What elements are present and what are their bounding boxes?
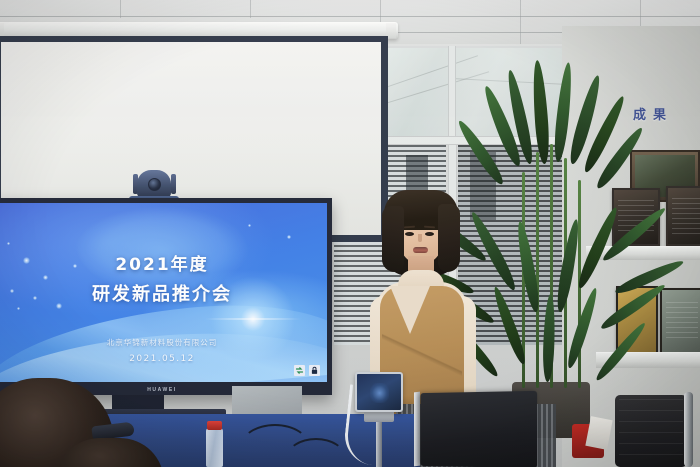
award-plaque: [666, 186, 700, 246]
slide-status-icons: [294, 365, 320, 376]
office-chair[interactable]: [615, 395, 687, 467]
slide-title: 2021年度: [0, 250, 327, 275]
window-mullion: [448, 46, 456, 142]
water-bottle[interactable]: [206, 428, 223, 467]
camera-lens-icon: [148, 178, 161, 191]
laptop-edge: [414, 392, 420, 467]
certificate-gray: [660, 288, 700, 356]
presenter-hair-right: [438, 204, 460, 272]
slide-flare-ray: [205, 318, 301, 320]
tv-brand-label: HUAWEI: [147, 387, 177, 393]
slide-date: 2021.05.12: [0, 354, 327, 364]
presenter-eye-right: [425, 232, 434, 236]
network-icon: [294, 365, 305, 376]
camera-arm-right: [171, 174, 176, 194]
potted-plant: [468, 52, 636, 432]
slide-particle: [248, 224, 251, 227]
phone-screen: [357, 374, 401, 410]
presenter-eye-left: [405, 232, 414, 236]
presenter-mouth: [413, 247, 428, 253]
wall-sign-text: 成果: [633, 104, 673, 123]
presenter-nose: [418, 234, 422, 242]
smartphone[interactable]: [355, 372, 403, 412]
presenter-hair-left: [382, 206, 404, 272]
slide-particle: [7, 242, 10, 245]
slide-particle: [287, 235, 291, 239]
lock-icon: [309, 365, 320, 376]
photo-scene: 成果: [0, 0, 700, 467]
slide-particle: [17, 307, 20, 310]
slide-particle: [43, 275, 48, 280]
slide-company-name: 北京华锦新材料股份有限公司: [0, 337, 327, 348]
display-screen[interactable]: 2021年度 研发新品推介会 北京华锦新材料股份有限公司 2021.05.12 …: [0, 198, 332, 395]
chair-frame: [684, 392, 693, 467]
presentation-slide: 2021年度 研发新品推介会 北京华锦新材料股份有限公司 2021.05.12: [0, 203, 327, 382]
slide-subtitle: 研发新品推介会: [0, 280, 327, 306]
bottle-cap: [207, 421, 222, 430]
laptop[interactable]: [420, 391, 537, 467]
